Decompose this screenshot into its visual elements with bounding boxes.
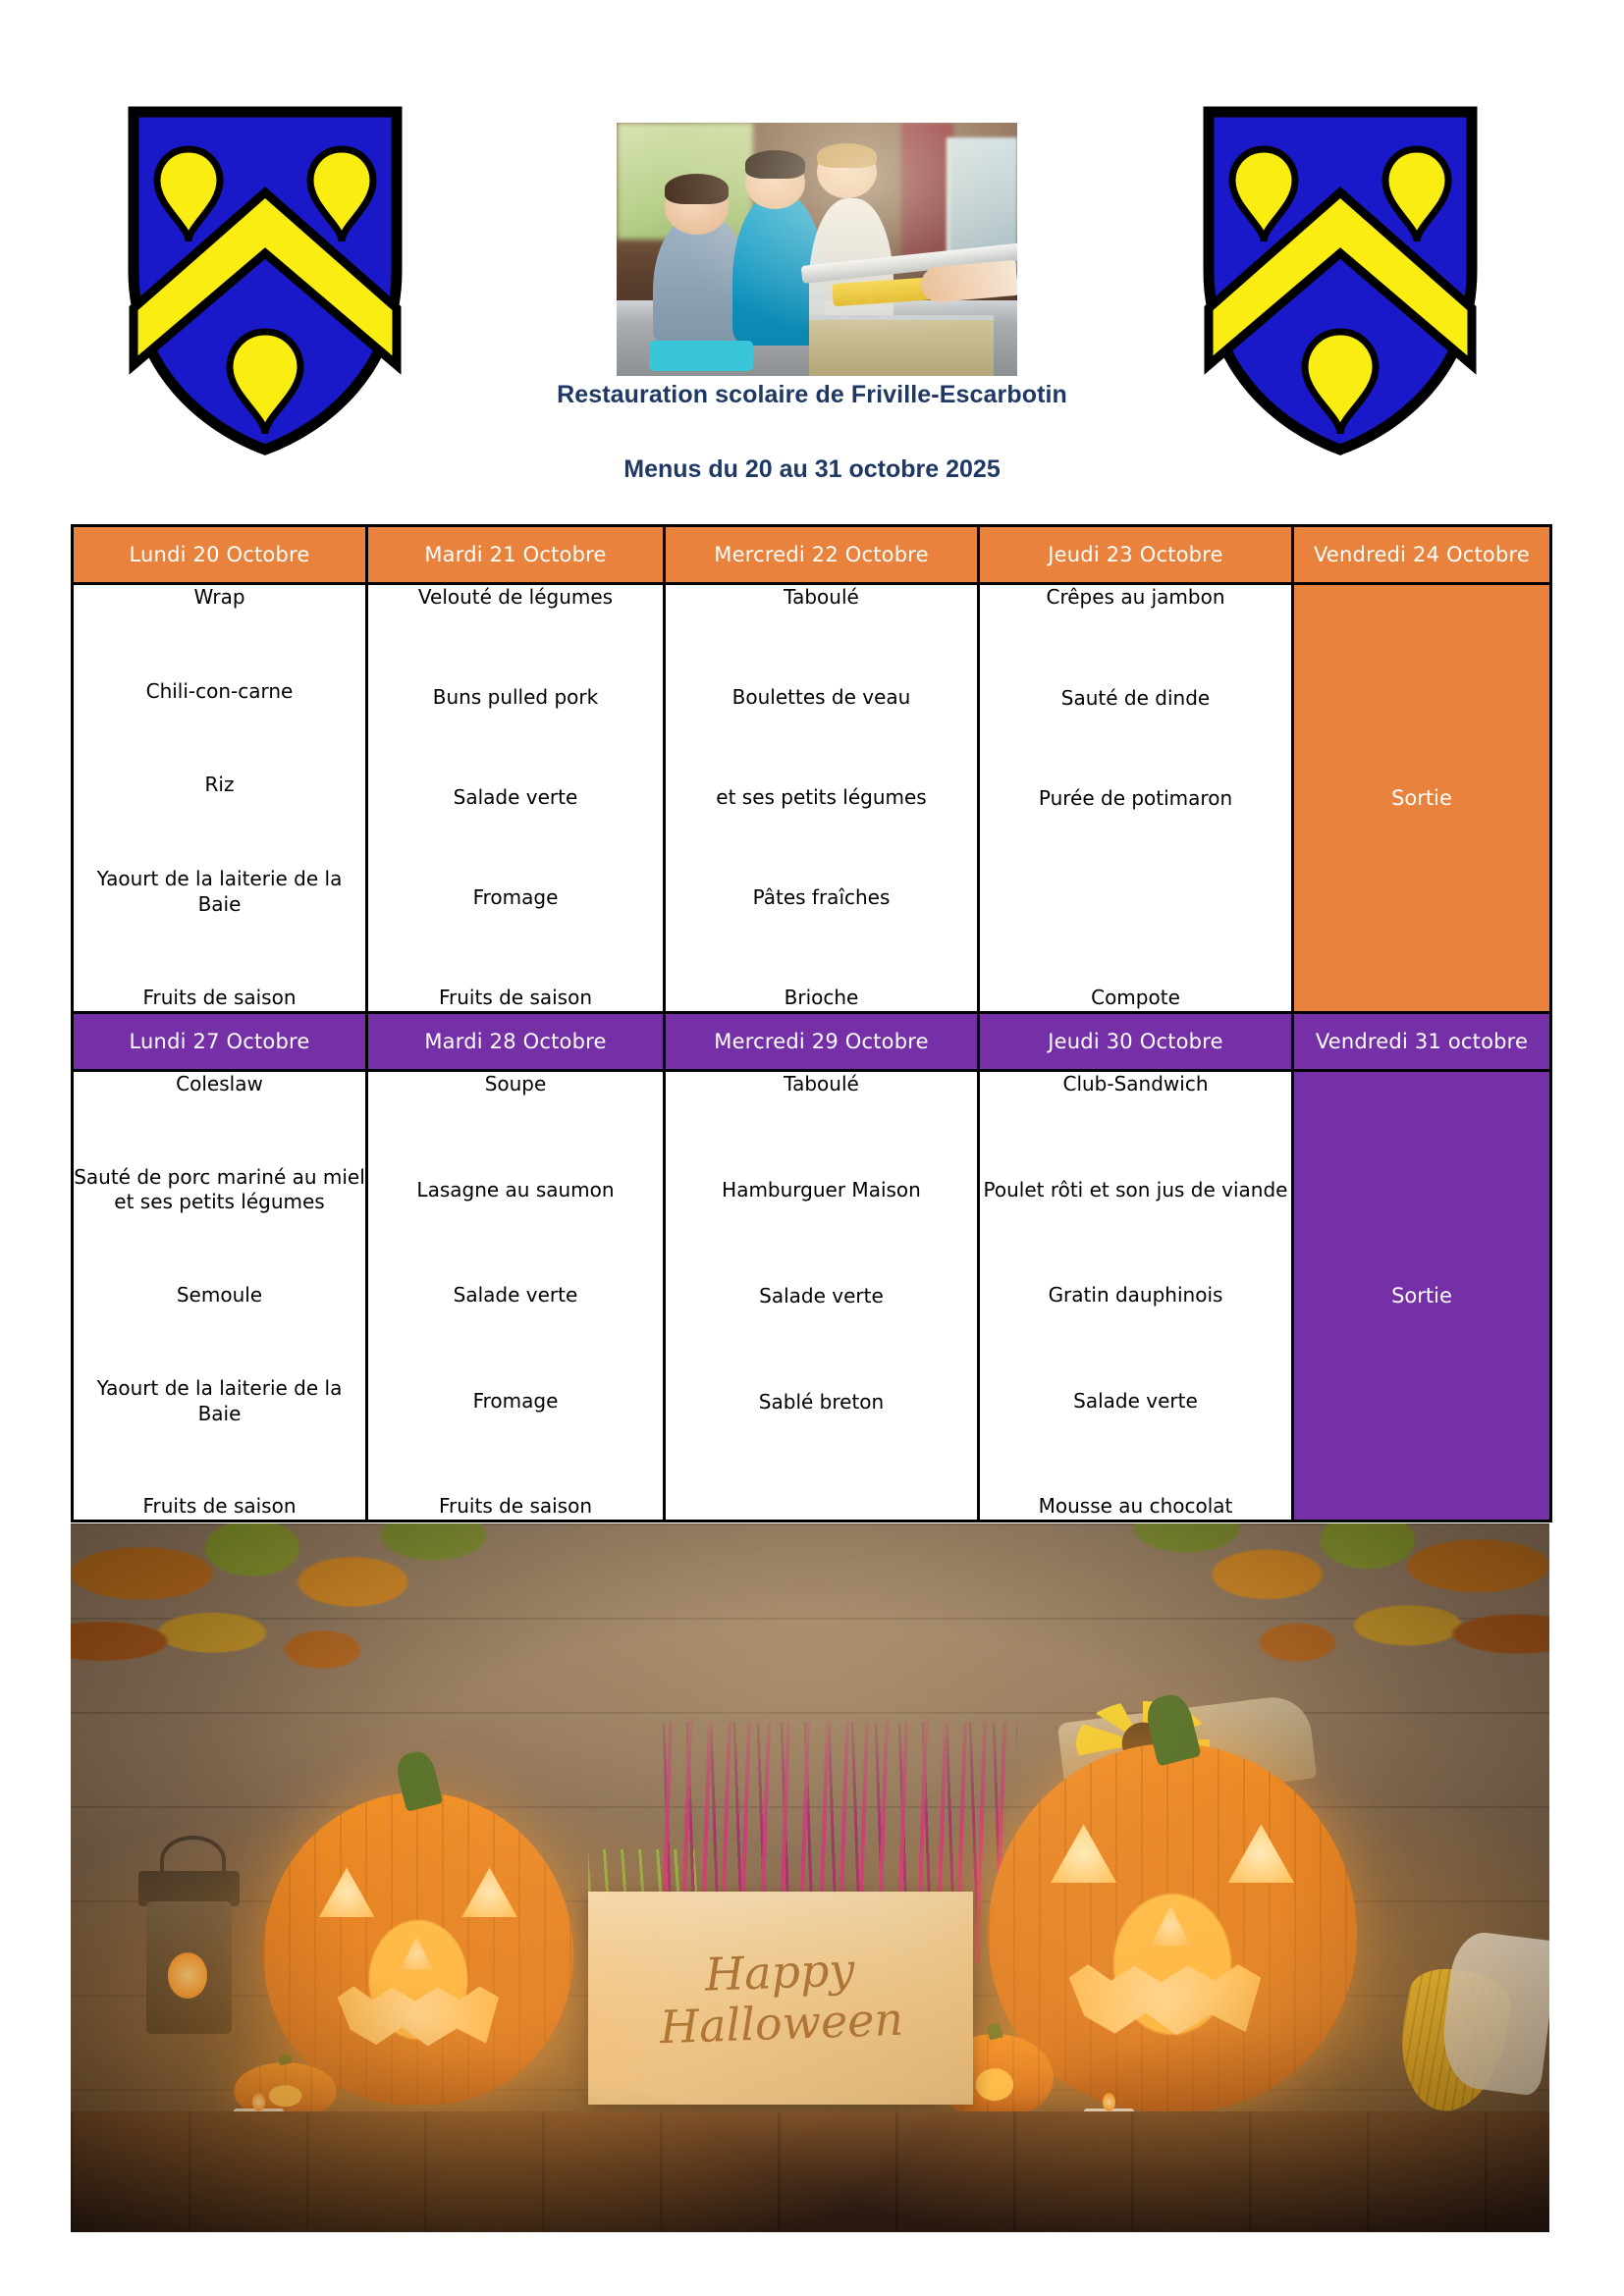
menu-table: Lundi 20 Octobre Mardi 21 Octobre Mercre… [71,524,1552,1522]
menu-item: Yaourt de la laiterie de la Baie [74,1376,365,1426]
menu-cell-vendredi-31-sortie: Sortie [1293,1071,1551,1522]
menu-item: Fruits de saison [368,986,663,1011]
menu-item: Fromage [368,1389,663,1415]
menu-item: Hamburguer Maison [666,1178,977,1203]
day-header-jeudi-23: Jeudi 23 Octobre [979,526,1293,584]
menu-cell-mardi-28: Soupe Lasagne au saumon Salade verte Fro… [367,1071,665,1522]
page-title: Restauration scolaire de Friville-Escarb… [0,381,1624,409]
week-1-header-row: Lundi 20 Octobre Mardi 21 Octobre Mercre… [73,526,1551,584]
week-1-menu-row: Wrap Chili-con-carne Riz Yaourt de la la… [73,584,1551,1013]
menu-item-spacer [666,1496,977,1520]
menu-item: Velouté de légumes [368,585,663,611]
menu-cell-mardi-21: Velouté de légumes Buns pulled pork Sala… [367,584,665,1013]
menu-item: Sauté de porc mariné au miel et ses peti… [74,1165,365,1215]
menu-item: Salade verte [368,785,663,811]
menu-item-spacer [980,887,1291,911]
menu-item: Purée de potimaron [980,786,1291,812]
menu-cell-lundi-27: Coleslaw Sauté de porc mariné au miel et… [73,1071,367,1522]
page-subtitle: Menus du 20 au 31 octobre 2025 [0,455,1624,484]
day-header-vendredi-31: Vendredi 31 octobre [1293,1013,1551,1071]
menu-item: Compote [980,986,1291,1011]
menu-item: Mousse au chocolat [980,1494,1291,1520]
week-2-header-row: Lundi 27 Octobre Mardi 28 Octobre Mercre… [73,1013,1551,1071]
menu-item: Yaourt de la laiterie de la Baie [74,867,365,917]
day-header-lundi-27: Lundi 27 Octobre [73,1013,367,1071]
menu-cell-mercredi-29: Taboulé Hamburguer Maison Salade verte S… [665,1071,979,1522]
menu-item: Chili-con-carne [74,679,365,705]
menu-item: Taboulé [666,585,977,611]
menu-item: Sablé breton [666,1390,977,1415]
menu-item: Sauté de dinde [980,686,1291,712]
day-header-mercredi-29: Mercredi 29 Octobre [665,1013,979,1071]
menu-item: Taboulé [666,1072,977,1097]
menu-item: Soupe [368,1072,663,1097]
menu-item: Salade verte [368,1283,663,1308]
title-block: Restauration scolaire de Friville-Escarb… [0,381,1624,484]
school-canteen-photo [617,123,1017,376]
day-header-mardi-28: Mardi 28 Octobre [367,1013,665,1071]
day-header-mercredi-22: Mercredi 22 Octobre [665,526,979,584]
menu-item: Fruits de saison [368,1494,663,1520]
menu-cell-jeudi-30: Club-Sandwich Poulet rôti et son jus de … [979,1071,1293,1522]
menu-item: Fruits de saison [74,1494,365,1520]
menu-item: Salade verte [666,1284,977,1309]
week-2-menu-row: Coleslaw Sauté de porc mariné au miel et… [73,1071,1551,1522]
day-header-mardi-21: Mardi 21 Octobre [367,526,665,584]
menu-item: Salade verte [980,1389,1291,1415]
menu-item: Riz [74,773,365,798]
menu-item: Pâtes fraîches [666,885,977,911]
day-header-lundi-20: Lundi 20 Octobre [73,526,367,584]
menu-cell-lundi-20: Wrap Chili-con-carne Riz Yaourt de la la… [73,584,367,1013]
menu-item: Wrap [74,585,365,611]
menu-item: Gratin dauphinois [980,1283,1291,1308]
document-header: Restauration scolaire de Friville-Escarb… [0,0,1624,501]
halloween-footer-image: Happy Halloween [71,1523,1549,2232]
menu-item: Coleslaw [74,1072,365,1097]
day-header-vendredi-24: Vendredi 24 Octobre [1293,526,1551,584]
menu-item: Club-Sandwich [980,1072,1291,1097]
menu-item: Boulettes de veau [666,685,977,711]
menu-cell-jeudi-23: Crêpes au jambon Sauté de dinde Purée de… [979,584,1293,1013]
menu-item: et ses petits légumes [666,785,977,811]
menu-cell-vendredi-24-sortie: Sortie [1293,584,1551,1013]
day-header-jeudi-30: Jeudi 30 Octobre [979,1013,1293,1071]
menu-cell-mercredi-22: Taboulé Boulettes de veau et ses petits … [665,584,979,1013]
menu-item: Buns pulled pork [368,685,663,711]
menu-item: Lasagne au saumon [368,1178,663,1203]
menu-item: Poulet rôti et son jus de viande [980,1178,1291,1203]
menu-item: Brioche [666,986,977,1011]
menu-item: Crêpes au jambon [980,585,1291,611]
menu-item: Fruits de saison [74,986,365,1011]
menu-item: Fromage [368,885,663,911]
menu-item: Semoule [74,1283,365,1308]
